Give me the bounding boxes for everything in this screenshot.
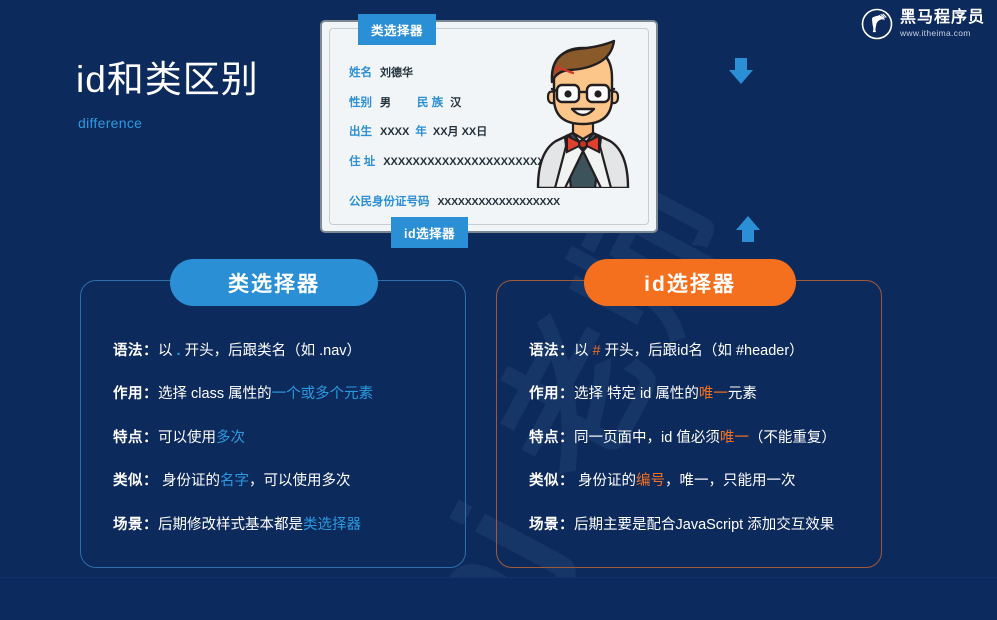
card-line-label: 场景： — [529, 517, 574, 533]
card-line: 语法：以 # 开头，后跟id名（如 #header） — [529, 343, 865, 360]
id-card-row-address: 住 址 XXXXXXXXXXXXXXXXXXXXXXXX — [349, 153, 549, 169]
card-line-label: 场景： — [113, 517, 158, 533]
card-line-text: 可以使用 — [158, 430, 216, 446]
id-field-label: 性别 — [349, 94, 372, 110]
card-line-label: 特点： — [113, 430, 158, 446]
id-card-number-row: 公民身份证号码 XXXXXXXXXXXXXXXXXX — [349, 193, 560, 209]
card-line-label: 类似： — [529, 473, 574, 489]
cartoon-person-avatar-icon — [524, 36, 642, 188]
card-line-label: 语法： — [529, 343, 574, 359]
id-field-value: 男 — [380, 94, 391, 110]
card-line: 场景：后期修改样式基本都是类选择器 — [113, 517, 449, 534]
id-field-value: 汉 — [450, 94, 461, 110]
card-line: 特点：同一页面中，id 值必须唯一（不能重复） — [529, 430, 865, 447]
card-line: 作用：选择 特定 id 属性的唯一元素 — [529, 386, 865, 403]
page-subtitle: difference — [78, 115, 259, 131]
card-line-label: 类似： — [113, 473, 158, 489]
card-line: 语法：以 . 开头，后跟类名（如 .nav） — [113, 343, 449, 360]
card-lines-id-selector: 语法：以 # 开头，后跟id名（如 #header）作用：选择 特定 id 属性… — [529, 343, 865, 534]
card-line-text: 唯一 — [699, 386, 728, 402]
id-card-fields: 姓名 刘德华 性别 男 民 族 汉 出生 XXXX 年 XX月 XX日 住 址 — [349, 64, 549, 182]
card-line-text: 开头，后跟id名（如 #header） — [601, 343, 804, 359]
card-class-selector: 类选择器 语法：以 . 开头，后跟类名（如 .nav）作用：选择 class 属… — [80, 280, 466, 568]
card-line-text: 编号 — [636, 473, 665, 489]
card-line: 作用：选择 class 属性的一个或多个元素 — [113, 386, 449, 403]
card-line-text: 开头，后跟类名（如 .nav） — [181, 343, 361, 359]
card-line-text: ，可以使用多次 — [249, 473, 351, 489]
card-lines-class-selector: 语法：以 . 开头，后跟类名（如 .nav）作用：选择 class 属性的一个或… — [113, 343, 449, 534]
card-line-label: 特点： — [529, 430, 574, 446]
card-title-class-selector: 类选择器 — [170, 259, 378, 306]
card-line-text: ，唯一，只能用一次 — [665, 473, 796, 489]
brand-name: 黑马程序员 — [900, 10, 985, 26]
card-line-label: 作用： — [113, 386, 158, 402]
card-line-text: 以 — [574, 343, 593, 359]
card-line-label: 语法： — [113, 343, 158, 359]
card-line: 类似： 身份证的名字，可以使用多次 — [113, 473, 449, 490]
id-field-label: 民 族 — [417, 94, 443, 110]
card-line-text: 身份证的 — [158, 473, 220, 489]
title-block: id和类区别 difference — [76, 58, 259, 131]
id-number-label: 公民身份证号码 — [349, 193, 430, 209]
card-line: 类似： 身份证的编号，唯一，只能用一次 — [529, 473, 865, 490]
id-card-illustration: 姓名 刘德华 性别 男 民 族 汉 出生 XXXX 年 XX月 XX日 住 址 — [320, 20, 658, 233]
card-line-text: 多次 — [216, 430, 245, 446]
card-line-text: 元素 — [728, 386, 757, 402]
id-card-row-gender: 性别 男 民 族 汉 — [349, 94, 549, 110]
card-line-text: 身份证的 — [574, 473, 636, 489]
id-card-face: 姓名 刘德华 性别 男 民 族 汉 出生 XXXX 年 XX月 XX日 住 址 — [320, 20, 658, 233]
card-line-text: 选择 特定 id 属性的 — [574, 386, 699, 402]
id-field-label: 姓名 — [349, 64, 372, 80]
id-field-label: 住 址 — [349, 153, 375, 169]
card-line-text: 后期主要是配合JavaScript 添加交互效果 — [574, 517, 834, 533]
brand-logo: 黑马程序员 www.itheima.com — [861, 8, 985, 40]
card-title-id-selector: id选择器 — [584, 259, 796, 306]
card-line-text: 同一页面中，id 值必须 — [574, 430, 720, 446]
card-line: 特点：可以使用多次 — [113, 430, 449, 447]
id-number-value: XXXXXXXXXXXXXXXXXX — [438, 196, 560, 208]
card-line-text: 后期修改样式基本都是 — [158, 517, 303, 533]
id-card-row-birth: 出生 XXXX 年 XX月 XX日 — [349, 123, 549, 139]
callout-class-selector: 类选择器 — [358, 14, 436, 45]
id-field-value: XXXX — [380, 126, 409, 138]
arrow-up-icon — [735, 216, 761, 242]
card-line-text: 类选择器 — [303, 517, 361, 533]
card-line-text: 选择 class 属性的 — [158, 386, 272, 402]
card-line-label: 作用： — [529, 386, 574, 402]
card-line-text: 以 — [158, 343, 177, 359]
id-field-label: 出生 — [349, 123, 372, 139]
id-card-row-name: 姓名 刘德华 — [349, 64, 549, 80]
card-id-selector: id选择器 语法：以 # 开头，后跟id名（如 #header）作用：选择 特定… — [496, 280, 882, 568]
id-field-value: XX月 XX日 — [433, 123, 487, 139]
slide-root: pj 老师 黑马程序员 www.itheima.com id和类区别 diffe… — [0, 0, 997, 620]
horse-head-circle-icon — [861, 8, 893, 40]
card-line-text: 一个或多个元素 — [272, 386, 374, 402]
card-line-text: 唯一 — [720, 430, 749, 446]
id-field-label: 年 — [415, 123, 427, 139]
bottom-band — [0, 577, 997, 620]
card-line: 场景：后期主要是配合JavaScript 添加交互效果 — [529, 517, 865, 534]
callout-id-selector: id选择器 — [391, 217, 468, 248]
brand-text: 黑马程序员 www.itheima.com — [900, 10, 985, 38]
page-title: id和类区别 — [76, 58, 259, 102]
card-line-text: （不能重复） — [749, 430, 836, 446]
brand-url: www.itheima.com — [900, 29, 985, 38]
card-line-text: # — [593, 343, 601, 359]
arrow-down-icon — [728, 58, 754, 84]
card-line-text: 名字 — [220, 473, 249, 489]
id-field-value: 刘德华 — [380, 64, 413, 80]
